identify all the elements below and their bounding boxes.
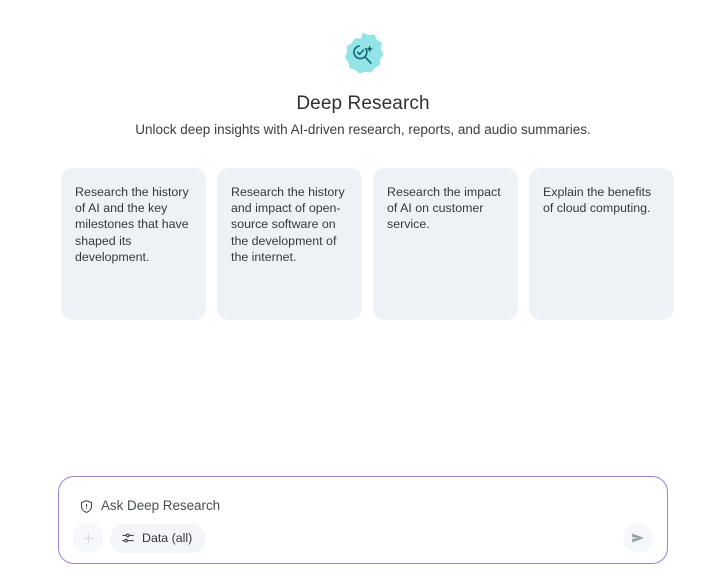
page-title: Deep Research (296, 92, 429, 116)
plus-icon (81, 531, 96, 546)
magnifier-check-sparkle-icon (350, 42, 376, 68)
suggestion-card-text: Research the history of AI and the key m… (75, 184, 192, 265)
composer-input-row (59, 477, 667, 519)
suggestion-card[interactable]: Research the impact of AI on customer se… (373, 168, 518, 320)
data-filter-chip-label: Data (all) (142, 530, 192, 546)
suggestion-cards-scroller[interactable]: Research the history of AI and the key m… (0, 168, 726, 320)
suggestion-card[interactable]: Explain the benefits of cloud computing. (529, 168, 674, 320)
suggestion-card-text: Research the history and impact of open-… (231, 184, 348, 265)
suggestion-card[interactable]: Research the history and impact of open-… (217, 168, 362, 320)
composer[interactable]: Data (all) (58, 476, 668, 564)
suggestion-cards-row: Research the history of AI and the key m… (0, 168, 726, 320)
add-attachment-button[interactable] (73, 523, 103, 553)
suggestion-card-text: Explain the benefits of cloud computing. (543, 184, 660, 216)
composer-toolbar: Data (all) (59, 523, 667, 553)
search-input[interactable] (101, 497, 649, 515)
data-filter-chip[interactable]: Data (all) (110, 524, 206, 553)
deep-research-badge (339, 31, 387, 79)
suggestion-card[interactable]: Research the history of AI and the key m… (61, 168, 206, 320)
hero-section: Deep Research Unlock deep insights with … (0, 0, 726, 139)
shield-icon (79, 499, 94, 514)
send-button[interactable] (623, 523, 653, 553)
tune-icon (121, 531, 135, 545)
suggestion-card-text: Research the impact of AI on customer se… (387, 184, 504, 233)
send-icon (630, 530, 646, 546)
composer-container: Data (all) (0, 476, 726, 578)
page-subtitle: Unlock deep insights with AI-driven rese… (135, 121, 590, 139)
deep-research-app: Deep Research Unlock deep insights with … (0, 0, 726, 578)
